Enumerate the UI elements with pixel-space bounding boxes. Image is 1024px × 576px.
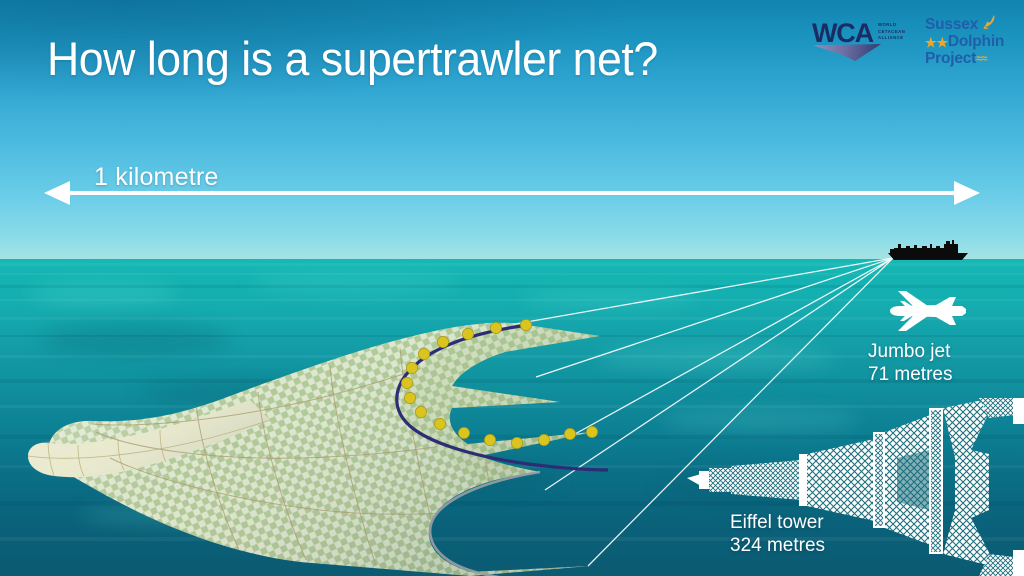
- waves-icon: ≈≈: [976, 51, 986, 68]
- wca-tagline-line3: ALLIANCE: [878, 35, 918, 42]
- sdp-line1: Sussex: [925, 16, 978, 33]
- wca-logo[interactable]: WCA WORLD CETACEAN ALLIANCE: [812, 18, 912, 66]
- people-icon: ★★: [925, 34, 948, 51]
- wca-wordmark: WCA: [812, 20, 873, 47]
- sdp-line2-row: ★★Dolphin: [925, 33, 1017, 50]
- jumbo-jet-measure: 71 metres: [868, 363, 952, 386]
- wca-tagline: WORLD CETACEAN ALLIANCE: [878, 22, 918, 42]
- scale-label: 1 kilometre: [94, 163, 218, 192]
- arrow-right-head: [954, 181, 980, 205]
- sdp-line2: Dolphin: [948, 33, 1004, 50]
- sdp-line3-row: Project≈≈: [925, 50, 1017, 67]
- infographic-canvas: Jumbo jet 71 metres: [0, 0, 1024, 576]
- scale-arrow: [44, 191, 980, 195]
- eiffel-tower-measure: 324 metres: [730, 534, 825, 557]
- eiffel-tower-name: Eiffel tower: [730, 511, 825, 534]
- sussex-dolphin-project-logo[interactable]: Sussex ★★Dolphin Project≈≈: [925, 16, 1017, 70]
- jumbo-jet-name: Jumbo jet: [868, 340, 952, 363]
- arrow-shaft: [66, 191, 958, 195]
- dolphin-icon: [983, 14, 997, 30]
- jumbo-jet-label: Jumbo jet 71 metres: [868, 340, 952, 386]
- wca-swoosh-icon: [813, 44, 881, 61]
- sdp-line1-row: Sussex: [925, 16, 1017, 33]
- supertrawler-ship-icon: [884, 240, 972, 262]
- eiffel-tower-label: Eiffel tower 324 metres: [730, 511, 825, 557]
- sdp-line3: Project: [925, 50, 976, 67]
- airplane-icon: [884, 287, 968, 335]
- page-title: How long is a supertrawler net?: [47, 33, 658, 86]
